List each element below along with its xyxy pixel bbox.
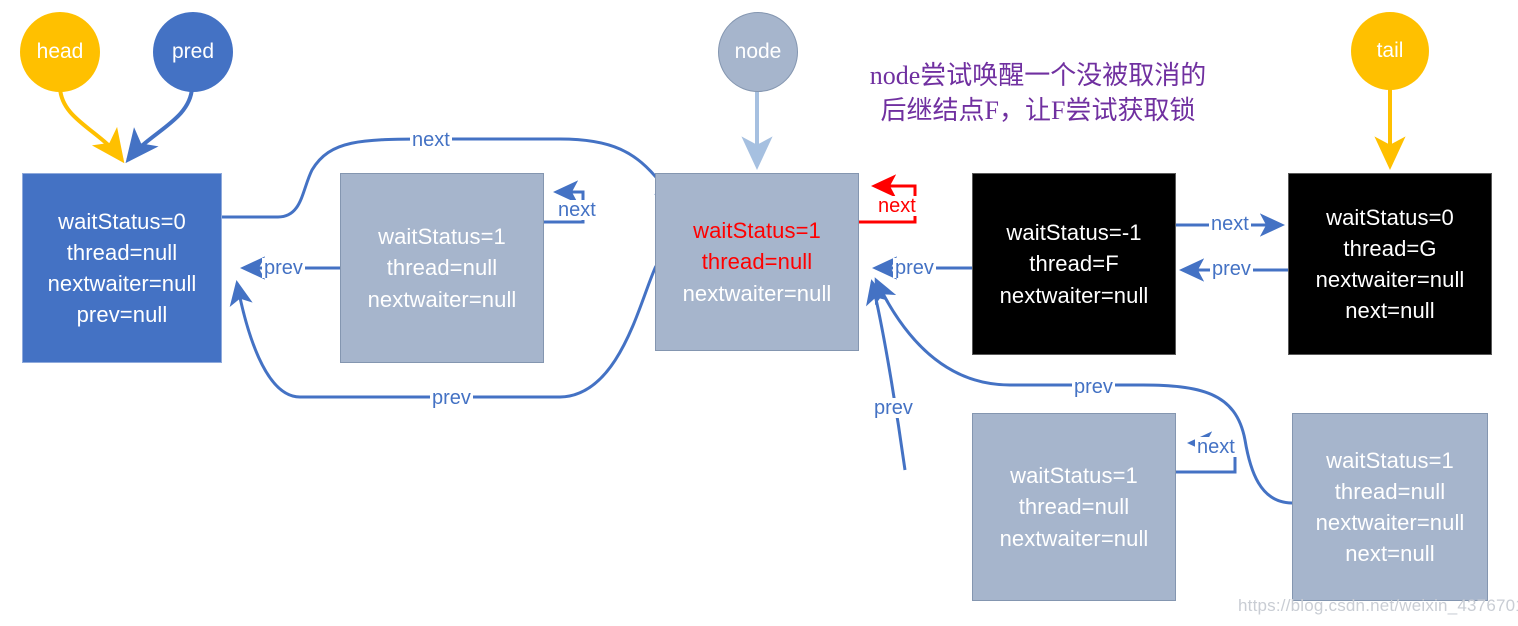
node-field: nextwaiter=null [1316, 507, 1465, 538]
node-field: nextwaiter=null [368, 284, 517, 315]
node-field: nextwaiter=null [683, 278, 832, 309]
edge-label-text: prev [874, 397, 913, 419]
node-field: waitStatus=1 [1010, 460, 1138, 491]
edge-label-text: next [1197, 436, 1235, 458]
edge-label-text: next [558, 199, 596, 221]
pointer-node[interactable]: node [718, 12, 798, 92]
node-field: thread=F [1029, 248, 1118, 279]
node-field: thread=null [387, 252, 498, 283]
node-box-cancelled-3[interactable]: waitStatus=1 thread=null nextwaiter=null… [1292, 413, 1488, 601]
pointer-node-label: node [735, 40, 782, 64]
pointer-tail-label: tail [1377, 39, 1404, 63]
node-field: nextwaiter=null [1316, 264, 1465, 295]
node-field: thread=G [1343, 233, 1436, 264]
edge-label-cancel1-prev: prev [262, 258, 305, 278]
edge-label-node-self-next: next [876, 196, 918, 216]
node-field: thread=null [1019, 491, 1130, 522]
node-field-highlight: thread=null [702, 246, 813, 277]
node-box-thread-g-tail[interactable]: waitStatus=0 thread=G nextwaiter=null ne… [1288, 173, 1492, 355]
edge-label-cancel3-prev-node: prev [1072, 377, 1115, 397]
node-field: next=null [1345, 295, 1435, 326]
node-box-cancelled-2[interactable]: waitStatus=1 thread=null nextwaiter=null [972, 413, 1176, 601]
node-field: waitStatus=1 [1326, 445, 1454, 476]
edge-label-cancel1-self-next: next [556, 200, 598, 220]
edge-label-text: prev [1212, 258, 1251, 280]
pointer-pred-label: pred [172, 40, 214, 64]
pointer-line-pred [128, 88, 192, 160]
edge-label-text: prev [895, 257, 934, 279]
node-box-head[interactable]: waitStatus=0 thread=null nextwaiter=null… [22, 173, 222, 363]
pointer-head-label: head [37, 40, 84, 64]
node-field: prev=null [77, 299, 168, 330]
watermark: https://blog.csdn.net/weixin_43767015 [1238, 596, 1518, 616]
edge-label-head-next: next [410, 130, 452, 150]
edge-label-f-prev-node: prev [893, 258, 936, 278]
node-box-cancelled-1[interactable]: waitStatus=1 thread=null nextwaiter=null [340, 173, 544, 363]
node-box-current-node[interactable]: waitStatus=1 thread=null nextwaiter=null [655, 173, 859, 351]
edge-cancel2-prev-node-line [872, 282, 905, 470]
pointer-head[interactable]: head [20, 12, 100, 92]
edge-label-text: prev [432, 387, 471, 409]
node-field: thread=null [1335, 476, 1446, 507]
edge-label-text: next [878, 195, 916, 217]
pointer-tail[interactable]: tail [1351, 12, 1429, 90]
edge-label-text: prev [1074, 376, 1113, 398]
edge-label-cancel2-prev-node: prev [872, 398, 915, 418]
diagram-canvas: head pred node tail waitStatus=0 thread=… [0, 0, 1518, 626]
pointer-pred[interactable]: pred [153, 12, 233, 92]
node-box-thread-f[interactable]: waitStatus=-1 thread=F nextwaiter=null [972, 173, 1176, 355]
node-field: thread=null [67, 237, 178, 268]
node-field: waitStatus=-1 [1006, 217, 1141, 248]
node-field: waitStatus=0 [58, 206, 186, 237]
edge-label-text: prev [264, 257, 303, 279]
node-field-highlight: waitStatus=1 [693, 215, 821, 246]
annotation-text: node尝试唤醒一个没被取消的 后继结点F，让F尝试获取锁 [848, 58, 1228, 128]
edge-label-f-next-g: next [1209, 214, 1251, 234]
edge-label-cancel2-self-next: next [1195, 437, 1237, 457]
node-field: next=null [1345, 538, 1435, 569]
edge-label-g-prev-f: prev [1210, 259, 1253, 279]
node-field: waitStatus=0 [1326, 202, 1454, 233]
node-field: nextwaiter=null [1000, 523, 1149, 554]
edge-label-text: next [1211, 213, 1249, 235]
edge-label-node-prev-head: prev [430, 388, 473, 408]
pointer-line-head [60, 88, 122, 160]
node-field: nextwaiter=null [1000, 280, 1149, 311]
node-field: waitStatus=1 [378, 221, 506, 252]
edge-label-text: next [412, 129, 450, 151]
node-field: nextwaiter=null [48, 268, 197, 299]
